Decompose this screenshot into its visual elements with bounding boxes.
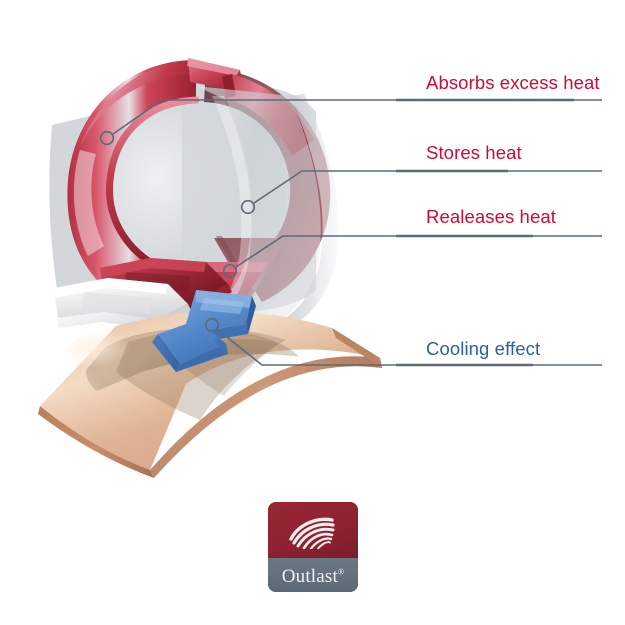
logo-trademark-symbol: ®: [338, 568, 344, 577]
callout-label-stores-heat: Stores heat: [426, 142, 522, 164]
label-underlines: [396, 100, 574, 365]
logo-wordmark: Outlast®: [268, 566, 358, 588]
diagram-canvas: Absorbs excess heat Stores heat Realease…: [0, 0, 625, 625]
logo-card: Outlast®: [268, 502, 358, 592]
callout-label-cooling-effect: Cooling effect: [426, 338, 540, 360]
callout-label-absorbs-excess-heat: Absorbs excess heat: [426, 72, 600, 94]
outlast-logo: Outlast®: [268, 502, 358, 592]
swoosh-stripes-icon: [288, 515, 338, 549]
logo-wordmark-text: Outlast: [282, 566, 338, 587]
callout-label-realeases-heat: Realeases heat: [426, 206, 556, 228]
